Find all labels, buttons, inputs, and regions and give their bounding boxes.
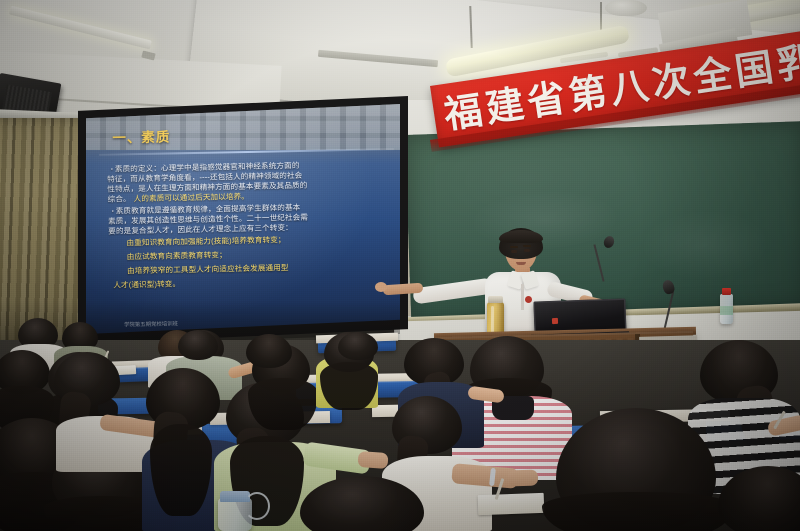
lecture-hall-photograph: 福建省第八次全国乳 一、素质 素质的定义：心理学中是指感觉器官和神经系统方面的 … <box>0 0 800 531</box>
slide-body-line: 综合。 <box>107 194 130 203</box>
list-item <box>248 378 318 430</box>
projector-icon <box>605 0 647 16</box>
presenter-shirt-placket <box>521 284 524 310</box>
list-item <box>508 469 539 486</box>
notebook <box>478 493 545 515</box>
water-bottle-cap <box>722 288 731 295</box>
presenter-eye-left <box>511 250 517 253</box>
list-item <box>150 424 212 516</box>
list-item <box>542 492 734 531</box>
presenter-eyebrow-left <box>510 246 518 248</box>
list-item <box>320 362 378 410</box>
slide-content: 一、素质 素质的定义：心理学中是指感觉器官和神经系统方面的 特征，而从教育学角度… <box>86 104 400 334</box>
projection-screen: 一、素质 素质的定义：心理学中是指感觉器官和神经系统方面的 特征，而从教育学角度… <box>86 104 400 334</box>
slide-body-line-highlight: 由培养狭窄的工具型人才向适应社会发展通用型 <box>127 263 289 275</box>
chalkboard-smudge <box>639 208 771 282</box>
list-item <box>246 334 292 368</box>
slide-body-line-highlight: 由重知识教育向加强能力(技能)培养教育转变； <box>126 235 285 247</box>
laptop-logo <box>552 318 558 324</box>
list-item <box>357 451 388 469</box>
presenter-eye-right <box>524 249 530 252</box>
presenter-lapel-badge <box>525 296 532 303</box>
presenter-mouth <box>516 262 526 265</box>
presenter-hair-fringe <box>499 230 543 243</box>
tea-jar-lid <box>488 296 503 303</box>
water-bottle-label <box>720 306 733 315</box>
slide-body-line-highlight: 由应试教育向素质教育转变； <box>127 250 227 261</box>
presenter-eyebrow-right <box>523 245 531 247</box>
presenter-right-hand <box>375 282 387 292</box>
slide-title: 一、素质 <box>112 125 170 146</box>
list-item <box>178 330 218 360</box>
water-bottle-handle <box>244 492 270 520</box>
light-suspension-rod <box>600 2 602 30</box>
slide-body-line-highlight: 人才(通识型)转变。 <box>113 279 180 289</box>
slide-body-line-highlight: 人的素质可以通过后天加以培养。 <box>133 192 249 203</box>
list-item <box>338 332 378 360</box>
slide-footer: 学院第五期党校培训班 <box>124 319 178 328</box>
